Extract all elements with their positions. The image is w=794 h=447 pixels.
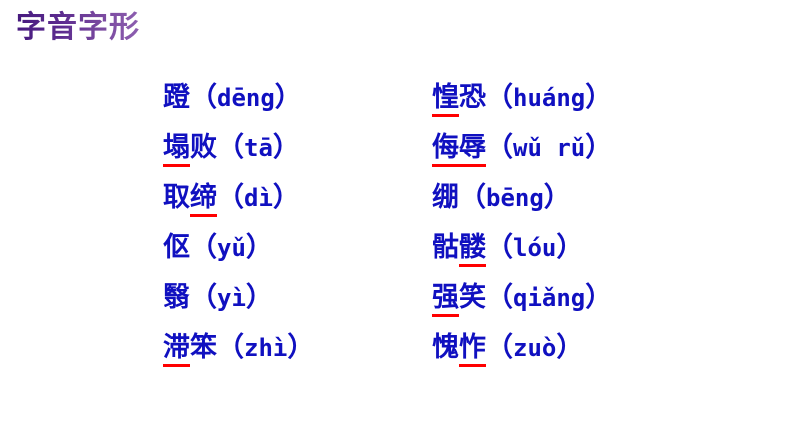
vocab-entry-right-2: 侮辱（wǔ rǔ）: [432, 122, 612, 173]
word-row: 伛（yǔ） 骷髅（lóu）: [0, 222, 794, 272]
paren-close: ）: [246, 232, 273, 263]
hanzi-marked: 滞: [163, 332, 190, 367]
pinyin-text: zuò: [513, 334, 556, 362]
paren-open: （: [190, 232, 217, 263]
hanzi-group: 蹬: [163, 82, 190, 113]
pinyin-text: bēng: [486, 184, 544, 212]
paren-open: （: [486, 332, 513, 363]
vocab-entry-right-1: 惶恐（huáng）: [432, 72, 612, 123]
hanzi-plain: 恐: [459, 82, 486, 113]
hanzi-marked: 缔: [190, 182, 217, 217]
slide-canvas: 字音字形 蹬（dēng） 惶恐（huáng） 塌败（tā） 侮辱（wǔ rǔ） …: [0, 0, 794, 447]
vocab-entry-left-2: 塌败（tā）: [163, 122, 300, 173]
paren-close: ）: [585, 82, 612, 113]
paren-close: ）: [544, 182, 571, 213]
pinyin-text: dēng: [217, 84, 275, 112]
word-row: 翳（yì） 强笑（qiǎng）: [0, 272, 794, 322]
hanzi-group: 侮辱: [432, 132, 486, 167]
word-row: 蹬（dēng） 惶恐（huáng）: [0, 72, 794, 122]
hanzi-group: 强笑: [432, 282, 486, 317]
vocab-entry-right-6: 愧怍（zuò）: [432, 322, 583, 373]
paren-close: ）: [275, 82, 302, 113]
hanzi-group: 惶恐: [432, 82, 486, 117]
paren-open: （: [217, 182, 244, 213]
hanzi-group: 取缔: [163, 182, 217, 217]
pinyin-text: qiǎng: [513, 284, 585, 312]
vocab-entry-right-3: 绷（bēng）: [432, 172, 571, 223]
pinyin-text: wǔ rǔ: [513, 134, 585, 162]
paren-close: ）: [273, 132, 300, 163]
paren-close: ）: [556, 332, 583, 363]
hanzi-marked: 怍: [459, 332, 486, 367]
paren-open: （: [486, 82, 513, 113]
hanzi-group: 翳: [163, 282, 190, 313]
paren-close: ）: [585, 282, 612, 313]
hanzi-plain: 笑: [459, 282, 486, 313]
paren-open: （: [190, 282, 217, 313]
hanzi-plain: 败: [190, 132, 217, 163]
paren-open: （: [486, 282, 513, 313]
hanzi-group: 滞笨: [163, 332, 217, 367]
vocab-entry-left-3: 取缔（dì）: [163, 172, 300, 223]
page-title: 字音字形: [16, 8, 140, 48]
paren-open: （: [486, 232, 513, 263]
hanzi-marked: 惶: [432, 82, 459, 117]
hanzi-marked: 强: [432, 282, 459, 317]
pinyin-text: huáng: [513, 84, 585, 112]
paren-close: ）: [246, 282, 273, 313]
hanzi-plain: 愧: [432, 332, 459, 363]
vocab-entry-left-6: 滞笨（zhì）: [163, 322, 314, 373]
pinyin-text: tā: [244, 134, 273, 162]
hanzi-marked: 侮辱: [432, 132, 486, 167]
paren-close: ）: [287, 332, 314, 363]
paren-open: （: [217, 332, 244, 363]
paren-open: （: [486, 132, 513, 163]
paren-open: （: [217, 132, 244, 163]
paren-close: ）: [556, 232, 583, 263]
hanzi-plain: 翳: [163, 282, 190, 313]
word-row: 塌败（tā） 侮辱（wǔ rǔ）: [0, 122, 794, 172]
word-row: 取缔（dì） 绷（bēng）: [0, 172, 794, 222]
vocab-entry-left-4: 伛（yǔ）: [163, 222, 273, 273]
hanzi-plain: 骷: [432, 232, 459, 263]
pinyin-text: yǔ: [217, 234, 246, 262]
vocabulary-list: 蹬（dēng） 惶恐（huáng） 塌败（tā） 侮辱（wǔ rǔ） 取缔（dì…: [0, 72, 794, 372]
paren-close: ）: [273, 182, 300, 213]
pinyin-text: dì: [244, 184, 273, 212]
hanzi-marked: 塌: [163, 132, 190, 167]
hanzi-plain: 伛: [163, 232, 190, 263]
hanzi-marked: 髅: [459, 232, 486, 267]
paren-close: ）: [585, 132, 612, 163]
paren-open: （: [459, 182, 486, 213]
hanzi-group: 骷髅: [432, 232, 486, 267]
pinyin-text: lóu: [513, 234, 556, 262]
hanzi-plain: 取: [163, 182, 190, 213]
pinyin-text: yì: [217, 284, 246, 312]
word-row: 滞笨（zhì） 愧怍（zuò）: [0, 322, 794, 372]
hanzi-group: 愧怍: [432, 332, 486, 367]
vocab-entry-left-5: 翳（yì）: [163, 272, 273, 323]
vocab-entry-left-1: 蹬（dēng）: [163, 72, 302, 123]
hanzi-group: 绷: [432, 182, 459, 213]
hanzi-group: 伛: [163, 232, 190, 263]
pinyin-text: zhì: [244, 334, 287, 362]
hanzi-group: 塌败: [163, 132, 217, 167]
vocab-entry-right-5: 强笑（qiǎng）: [432, 272, 612, 323]
hanzi-plain: 笨: [190, 332, 217, 363]
vocab-entry-right-4: 骷髅（lóu）: [432, 222, 583, 273]
paren-open: （: [190, 82, 217, 113]
hanzi-plain: 绷: [432, 182, 459, 213]
hanzi-plain: 蹬: [163, 82, 190, 113]
